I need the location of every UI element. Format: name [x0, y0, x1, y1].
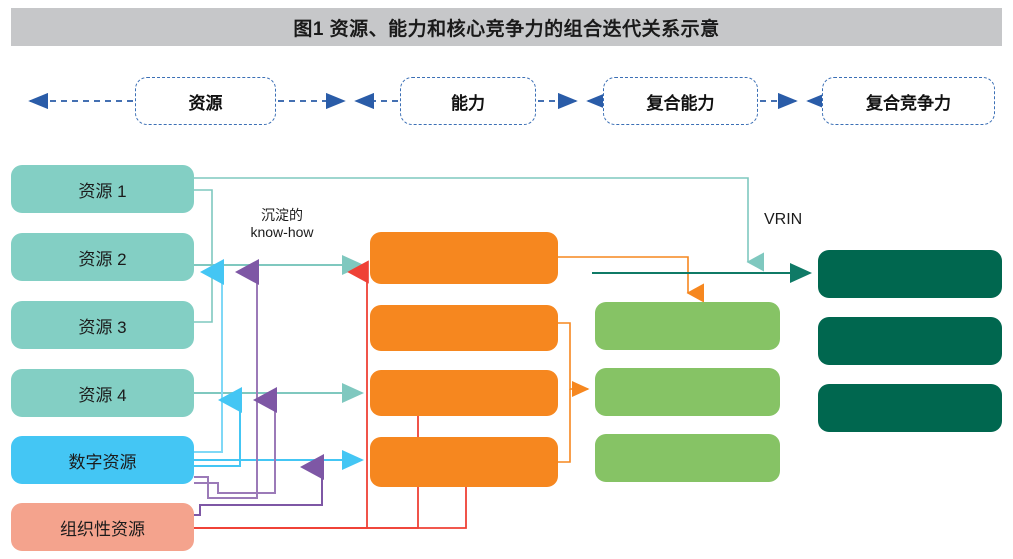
composite-competitiveness-box-3[interactable]: [818, 384, 1002, 432]
resource-box-2[interactable]: 资源 2: [11, 233, 194, 281]
composite-capability-box-1[interactable]: [595, 302, 780, 350]
wire-digital-purple-to-cap3: [194, 400, 275, 493]
vrin-label: VRIN: [764, 211, 824, 230]
capability-box-2[interactable]: [370, 305, 558, 351]
stage-box-capability[interactable]: 能力: [400, 77, 536, 125]
wire-cap4-to-comp2: [558, 389, 570, 462]
capability-box-3[interactable]: [370, 370, 558, 416]
wire-digital-up-to-cap1: [194, 272, 222, 452]
stage-label-resource: 资源: [189, 89, 223, 114]
resource-label-4: 资源 4: [78, 381, 126, 406]
wire-org-red-to-cap1: [194, 272, 367, 528]
wire-org-purple-to-cap4: [194, 467, 322, 515]
resource-box-1[interactable]: 资源 1: [11, 165, 194, 213]
resource-label-organizational: 组织性资源: [60, 515, 145, 540]
wire-res3-merge: [194, 265, 212, 322]
stage-box-resource[interactable]: 资源: [135, 77, 276, 125]
diagram-canvas: 图1 资源、能力和核心竞争力的组合迭代关系示意: [0, 0, 1013, 559]
stage-box-composite-capability[interactable]: 复合能力: [603, 77, 758, 125]
wire-cap2-to-comp2: [558, 323, 588, 389]
resource-box-3[interactable]: 资源 3: [11, 301, 194, 349]
resource-label-2: 资源 2: [78, 245, 126, 270]
figure-title: 图1 资源、能力和核心竞争力的组合迭代关系示意: [293, 14, 719, 41]
resource-box-4[interactable]: 资源 4: [11, 369, 194, 417]
wire-digital-purple-to-cap1: [194, 272, 257, 498]
resource-box-organizational[interactable]: 组织性资源: [11, 503, 194, 551]
wire-res1-merge: [194, 190, 212, 265]
know-how-label: 沉淀的 know-how: [222, 207, 342, 240]
resource-label-3: 资源 3: [78, 313, 126, 338]
composite-competitiveness-box-1[interactable]: [818, 250, 1002, 298]
resource-box-digital[interactable]: 数字资源: [11, 436, 194, 484]
wire-digital-up-to-cap3: [194, 400, 240, 466]
composite-capability-box-2[interactable]: [595, 368, 780, 416]
stage-label-composite-capability: 复合能力: [647, 89, 715, 114]
figure-title-bar: 图1 资源、能力和核心竞争力的组合迭代关系示意: [11, 8, 1002, 46]
resource-label-digital: 数字资源: [69, 448, 137, 473]
composite-competitiveness-box-2[interactable]: [818, 317, 1002, 365]
composite-capability-box-3[interactable]: [595, 434, 780, 482]
wire-cap1-to-comp1: [558, 257, 688, 293]
resource-label-1: 资源 1: [78, 177, 126, 202]
capability-box-1[interactable]: [370, 232, 558, 284]
stage-label-composite-competitiveness: 复合竞争力: [866, 89, 951, 114]
capability-box-4[interactable]: [370, 437, 558, 487]
stage-box-composite-competitiveness[interactable]: 复合竞争力: [822, 77, 995, 125]
stage-label-capability: 能力: [451, 89, 485, 114]
